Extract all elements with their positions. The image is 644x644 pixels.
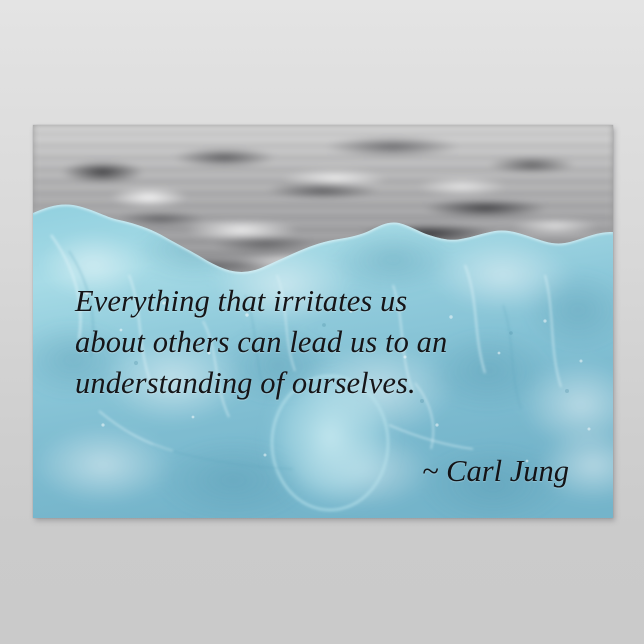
quote-text: Everything that irritates us about other… xyxy=(33,281,613,404)
quote-line-2: about others can lead us to an xyxy=(75,322,573,363)
poster-image[interactable]: Everything that irritates us about other… xyxy=(33,125,613,518)
quote-line-1: Everything that irritates us xyxy=(75,281,573,322)
quote-line-3: understanding of ourselves. xyxy=(75,363,573,404)
page-background: Everything that irritates us about other… xyxy=(0,0,644,644)
quote-attribution: ~ Carl Jung xyxy=(422,453,569,489)
